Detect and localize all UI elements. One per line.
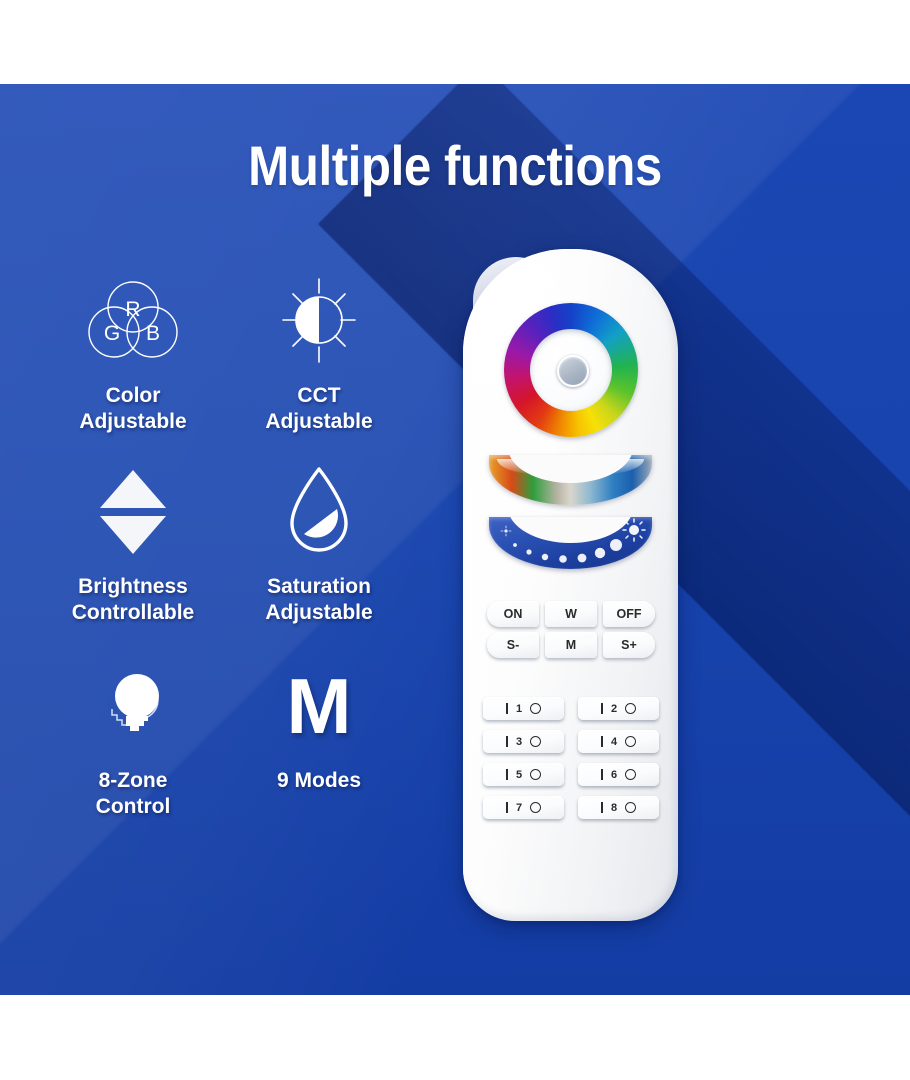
zone-row-2: 3 4 (483, 730, 659, 753)
zone-button-8[interactable]: 8 (578, 796, 659, 819)
feature-label-line2: Adjustable (79, 409, 186, 435)
feature-8-zone-control: 8-Zone Control (40, 650, 226, 821)
brightness-slider-marks (489, 517, 652, 569)
center-button[interactable] (557, 355, 589, 387)
feature-label-line2: Adjustable (265, 600, 372, 626)
speed-plus-button[interactable]: S+ (603, 632, 655, 658)
feature-label: 8-Zone Control (96, 768, 171, 821)
feature-brightness-controllable: Brightness Controllable (40, 456, 226, 627)
sun-half-icon (269, 265, 369, 377)
feature-cct-adjustable: CCT Adjustable (226, 265, 412, 436)
feature-label-line2: Adjustable (265, 409, 372, 435)
color-wheel[interactable] (504, 303, 638, 437)
saturation-slider[interactable] (489, 455, 652, 505)
zone-off-circle-icon (530, 802, 541, 813)
feature-grid: R G B Color Adjustable (40, 265, 440, 821)
brightness-slider[interactable] (489, 517, 652, 569)
zone-button-7[interactable]: 7 (483, 796, 564, 819)
zone-number: 5 (516, 769, 522, 781)
water-drop-icon (279, 456, 359, 568)
remote-control: ON W OFF S- M S+ 1 2 (463, 249, 678, 921)
feature-label: Brightness Controllable (72, 574, 195, 627)
feature-row-1: R G B Color Adjustable (40, 265, 440, 436)
zone-number: 8 (611, 802, 617, 814)
zone-on-bar-icon (506, 769, 508, 780)
zone-off-circle-icon (530, 736, 541, 747)
feature-label-line1: Saturation (265, 574, 372, 600)
feature-row-3: 8-Zone Control M 9 Modes (40, 650, 440, 821)
feature-saturation-adjustable: Saturation Adjustable (226, 456, 412, 627)
zone-off-circle-icon (625, 736, 636, 747)
feature-label-line1: Color (79, 383, 186, 409)
zone-button-6[interactable]: 6 (578, 763, 659, 786)
feature-9-modes: M 9 Modes (226, 650, 412, 821)
letter-m-icon: M (287, 650, 352, 762)
zone-on-bar-icon (506, 736, 508, 747)
zone-number: 4 (611, 736, 617, 748)
zone-off-circle-icon (625, 703, 636, 714)
zone-button-2[interactable]: 2 (578, 697, 659, 720)
zone-button-5[interactable]: 5 (483, 763, 564, 786)
on-button[interactable]: ON (487, 601, 539, 627)
zone-on-bar-icon (601, 769, 603, 780)
rgb-letter-r: R (125, 298, 140, 321)
zone-off-circle-icon (530, 769, 541, 780)
feature-label-line2: Control (96, 794, 171, 820)
zone-row-3: 5 6 (483, 763, 659, 786)
feature-color-adjustable: R G B Color Adjustable (40, 265, 226, 436)
zone-button-1[interactable]: 1 (483, 697, 564, 720)
off-button[interactable]: OFF (603, 601, 655, 627)
speed-minus-button[interactable]: S- (487, 632, 539, 658)
function-button-row-1: ON W OFF (487, 601, 655, 627)
rgb-letter-g: G (104, 322, 120, 345)
zone-off-circle-icon (625, 802, 636, 813)
w-button[interactable]: W (545, 601, 597, 627)
feature-label-line2: Controllable (72, 600, 195, 626)
rgb-letter-b: B (146, 322, 160, 345)
saturation-slider-mask (508, 455, 633, 483)
zone-off-circle-icon (625, 769, 636, 780)
zone-button-4[interactable]: 4 (578, 730, 659, 753)
zone-row-1: 1 2 (483, 697, 659, 720)
feature-label: Color Adjustable (79, 383, 186, 436)
zone-number: 3 (516, 736, 522, 748)
feature-label-line1: CCT (265, 383, 372, 409)
zone-off-circle-icon (530, 703, 541, 714)
page-title: Multiple functions (55, 133, 856, 198)
zone-button-group: 1 2 3 4 (483, 697, 659, 829)
zone-number: 1 (516, 703, 522, 715)
function-button-group: ON W OFF S- M S+ (487, 601, 655, 663)
brightness-sun-icon (623, 519, 645, 541)
zone-on-bar-icon (601, 802, 603, 813)
mode-button[interactable]: M (545, 632, 597, 658)
letter-m-glyph: M (287, 667, 352, 745)
two-bulbs-icon (88, 650, 178, 762)
feature-label-line1: 8-Zone (96, 768, 171, 794)
feature-label: 9 Modes (277, 768, 361, 794)
function-button-row-2: S- M S+ (487, 632, 655, 658)
zone-button-3[interactable]: 3 (483, 730, 564, 753)
zone-on-bar-icon (601, 703, 603, 714)
zone-number: 7 (516, 802, 522, 814)
product-feature-banner: Multiple functions R G B Color (0, 0, 910, 1080)
zone-number: 2 (611, 703, 617, 715)
zone-on-bar-icon (506, 703, 508, 714)
up-down-triangles-icon (90, 456, 176, 568)
feature-label-line1: Brightness (72, 574, 195, 600)
zone-row-4: 7 8 (483, 796, 659, 819)
zone-on-bar-icon (506, 802, 508, 813)
feature-label: Saturation Adjustable (265, 574, 372, 627)
zone-number: 6 (611, 769, 617, 781)
feature-row-2: Brightness Controllable Saturation Adjus… (40, 456, 440, 627)
zone-on-bar-icon (601, 736, 603, 747)
rgb-circles-icon: R G B (81, 265, 185, 377)
feature-label-line1: 9 Modes (277, 768, 361, 794)
feature-label: CCT Adjustable (265, 383, 372, 436)
